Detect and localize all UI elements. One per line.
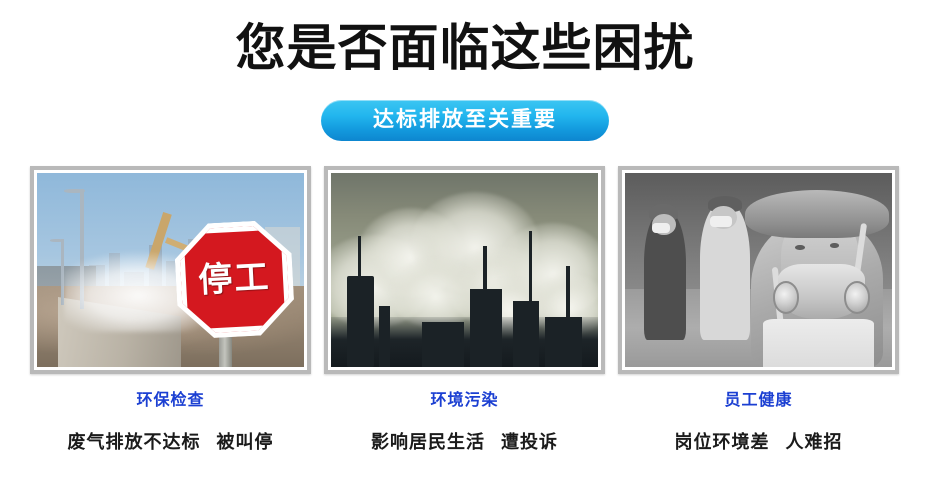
workers-respirator-image (625, 173, 892, 367)
card-group: 停工 环保检查 废气排放不达标被叫停 (0, 166, 930, 466)
badge-row: 达标排放至关重要 (0, 100, 930, 141)
card-caption: 环境污染 (324, 386, 605, 410)
photo-frame: 停工 (30, 166, 311, 374)
photo-frame (324, 166, 605, 374)
respirator-mask-icon (778, 264, 865, 319)
card-caption: 环保检查 (30, 386, 311, 410)
card-subtitle: 废气排放不达标被叫停 (30, 428, 311, 454)
dust-mask-icon (710, 216, 731, 228)
card-item: 环境污染 影响居民生活遭投诉 (324, 166, 605, 454)
card-subtitle: 岗位环境差人难招 (618, 428, 899, 454)
card-subtitle-right: 被叫停 (217, 432, 274, 452)
demolition-site-image: 停工 (37, 173, 304, 367)
card-subtitle: 影响居民生活遭投诉 (324, 428, 605, 454)
card-caption: 员工健康 (618, 386, 899, 410)
stop-work-sign-icon: 停工 (181, 227, 288, 332)
card-item: 停工 环保检查 废气排放不达标被叫停 (30, 166, 311, 454)
dust-mask-icon (652, 223, 671, 233)
card-subtitle-left: 岗位环境差 (675, 432, 770, 452)
card-subtitle-left: 影响居民生活 (371, 432, 485, 452)
wide-brim-hat-icon (745, 190, 889, 238)
page-title: 您是否面临这些困扰 (0, 18, 930, 78)
stop-work-sign-label: 停工 (198, 261, 272, 299)
card-subtitle-right: 遭投诉 (501, 432, 558, 452)
photo-frame (618, 166, 899, 374)
card-subtitle-left: 废气排放不达标 (68, 432, 201, 452)
pollution-smokestack-image (331, 173, 598, 367)
industrial-plant-silhouette (331, 317, 598, 367)
card-item: 员工健康 岗位环境差人难招 (618, 166, 899, 454)
card-subtitle-right: 人难招 (786, 432, 843, 452)
foreground-worker (742, 183, 892, 367)
highlight-badge: 达标排放至关重要 (321, 100, 609, 141)
